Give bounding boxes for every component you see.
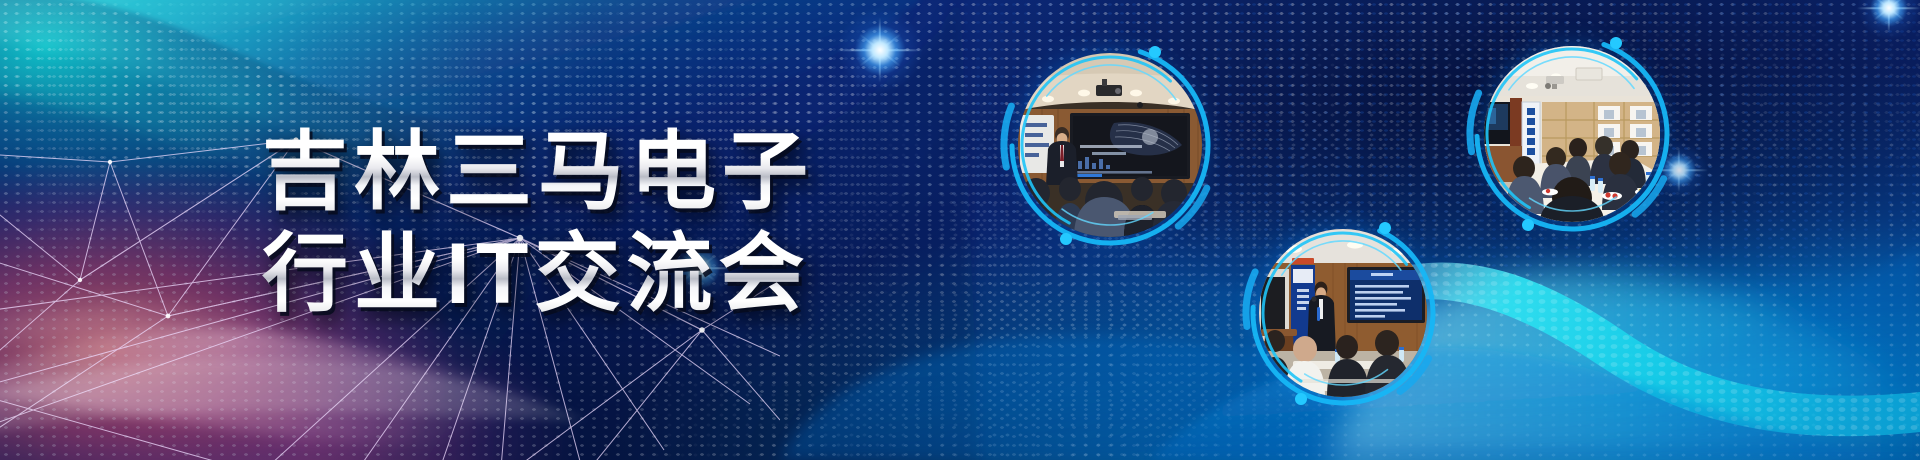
ring-node-top	[1149, 46, 1161, 58]
headline-line-1: 吉林三马电子	[262, 124, 814, 220]
ring-node-top	[1610, 37, 1622, 49]
photo-node-speaker-microphone[interactable]	[1233, 203, 1453, 423]
photo-node-attendees-tables[interactable]	[1456, 18, 1688, 250]
photo-node-seminar-presentation[interactable]	[990, 25, 1230, 265]
ring-node-bottom	[1295, 393, 1307, 405]
banner-headline: 吉林三马电子 行业IT交流会	[262, 124, 814, 322]
event-banner: 吉林三马电子 行业IT交流会	[0, 0, 1920, 460]
ring-node-bottom	[1060, 233, 1072, 245]
tech-ring-3	[1456, 18, 1688, 250]
ring-node-bottom	[1522, 219, 1534, 231]
tech-ring-2	[1233, 203, 1453, 423]
headline-line-2: 行业IT交流会	[262, 226, 814, 322]
ring-node-top	[1379, 222, 1391, 234]
tech-ring-1	[990, 25, 1230, 265]
